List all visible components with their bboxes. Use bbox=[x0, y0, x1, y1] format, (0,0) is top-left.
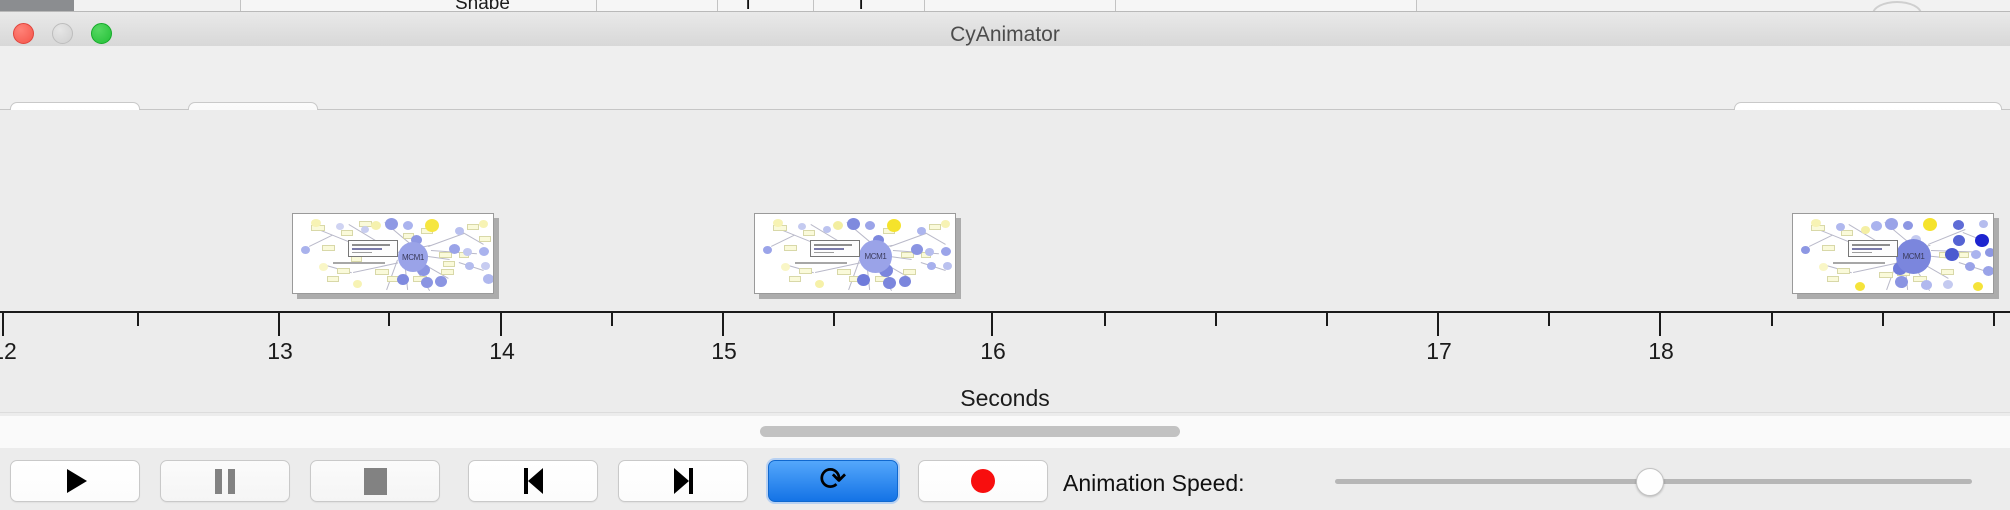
animation-speed-slider[interactable] bbox=[1335, 460, 1972, 502]
next-frame-button[interactable] bbox=[618, 460, 748, 502]
timeline-axis bbox=[0, 311, 2010, 313]
title-bar: CyAnimator bbox=[0, 12, 2010, 47]
axis-label-15: 15 bbox=[711, 338, 737, 365]
node-tooltip-callout-3 bbox=[1848, 240, 1898, 257]
annotation-text-3 bbox=[1833, 262, 1885, 264]
hub-node-label-2: MCM1 bbox=[859, 240, 892, 273]
node-tooltip-callout-1 bbox=[348, 240, 398, 257]
network-thumbnail-1: MCM1 bbox=[293, 214, 493, 293]
loop-button[interactable]: ⟳ bbox=[768, 460, 898, 502]
axis-tick-minor bbox=[611, 313, 613, 326]
axis-tick-major bbox=[991, 313, 993, 336]
network-thumbnail-3: MCM1 bbox=[1793, 214, 1993, 293]
axis-label-13: 13 bbox=[267, 338, 293, 365]
axis-tick-major bbox=[500, 313, 502, 336]
axis-tick-major bbox=[722, 313, 724, 336]
record-icon bbox=[971, 469, 995, 493]
background-panel-6 bbox=[1115, 0, 1417, 11]
axis-tick-minor bbox=[1771, 313, 1773, 326]
scrollbar-track bbox=[0, 413, 2010, 416]
axis-tick-minor bbox=[1215, 313, 1217, 326]
previous-frame-button[interactable] bbox=[468, 460, 598, 502]
axis-tick-minor bbox=[1882, 313, 1884, 326]
axis-label-18: 18 bbox=[1648, 338, 1674, 365]
timeline-panel[interactable]: MCM1 bbox=[0, 110, 2010, 412]
cyanimator-window: Shape T T CyAnimator + Clear All Frames bbox=[0, 0, 2010, 510]
network-thumbnail-2: MCM1 bbox=[755, 214, 955, 293]
frame-thumbnail-1[interactable]: MCM1 bbox=[292, 213, 494, 294]
background-panel-1 bbox=[240, 0, 597, 11]
play-button[interactable] bbox=[10, 460, 140, 502]
axis-tick-minor bbox=[833, 313, 835, 326]
animation-speed-label: Animation Speed: bbox=[1063, 470, 1245, 497]
node-tooltip-callout-2 bbox=[810, 240, 860, 257]
record-button[interactable] bbox=[918, 460, 1048, 502]
background-shape-label: Shape bbox=[455, 0, 510, 9]
axis-label-12: 12 bbox=[0, 338, 17, 365]
slider-thumb[interactable] bbox=[1636, 468, 1664, 496]
background-panel-4 bbox=[813, 0, 925, 11]
axis-label-14: 14 bbox=[489, 338, 515, 365]
pause-icon bbox=[215, 469, 235, 494]
skip-forward-icon bbox=[674, 468, 693, 494]
play-icon bbox=[67, 469, 87, 493]
axis-label-16: 16 bbox=[980, 338, 1006, 365]
text-tool-glyph-1: T bbox=[742, 0, 754, 9]
skip-backward-icon bbox=[524, 468, 543, 494]
frame-thumbnail-2[interactable]: MCM1 bbox=[754, 213, 956, 294]
axis-tick-major bbox=[278, 313, 280, 336]
axis-tick-minor bbox=[388, 313, 390, 326]
timeline-scrollbar[interactable] bbox=[0, 412, 2010, 450]
annotation-text-2 bbox=[795, 262, 847, 264]
frame-thumbnail-3[interactable]: MCM1 bbox=[1792, 213, 1994, 294]
axis-tick-major bbox=[2, 313, 4, 336]
pause-button[interactable] bbox=[160, 460, 290, 502]
text-tool-glyph-2: T bbox=[855, 0, 867, 9]
window-title: CyAnimator bbox=[0, 23, 2010, 47]
background-panel-2 bbox=[596, 0, 718, 11]
annotation-text-1 bbox=[333, 262, 385, 264]
background-panel-3 bbox=[717, 0, 814, 11]
loop-icon: ⟳ bbox=[819, 462, 847, 495]
background-panel-5 bbox=[924, 0, 1116, 11]
stop-button[interactable] bbox=[310, 460, 440, 502]
hub-node-label-3: MCM1 bbox=[1896, 239, 1931, 274]
toolbar: + Clear All Frames bbox=[0, 46, 2010, 110]
playback-controls: ⟳ Animation Speed: bbox=[0, 448, 2010, 510]
axis-tick-minor bbox=[137, 313, 139, 326]
stop-icon bbox=[364, 468, 387, 495]
axis-tick-major bbox=[1659, 313, 1661, 336]
axis-title: Seconds bbox=[0, 385, 2010, 412]
axis-label-17: 17 bbox=[1426, 338, 1452, 365]
axis-tick-minor bbox=[1993, 313, 1995, 326]
background-app-strip: Shape T T bbox=[0, 0, 2010, 12]
scrollbar-thumb[interactable] bbox=[760, 426, 1180, 437]
axis-tick-minor bbox=[1104, 313, 1106, 326]
axis-tick-minor bbox=[1326, 313, 1328, 326]
hub-node-label-1: MCM1 bbox=[398, 242, 428, 272]
axis-tick-minor bbox=[1548, 313, 1550, 326]
axis-tick-major bbox=[1437, 313, 1439, 336]
